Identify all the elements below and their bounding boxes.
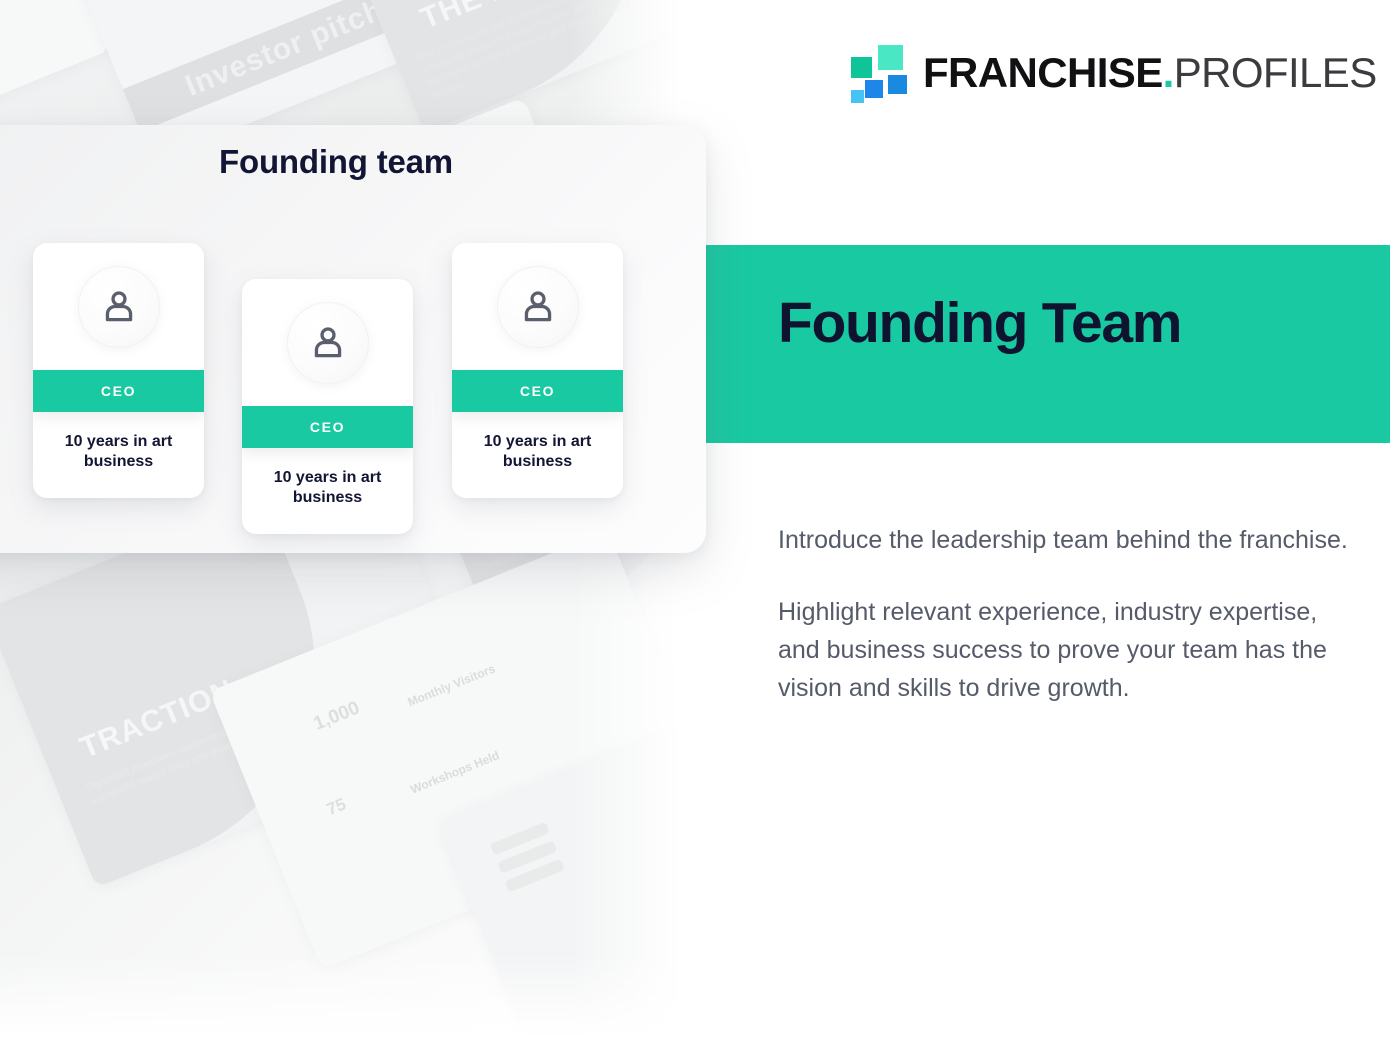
logo-wordmark: FRANCHISE.PROFILES <box>923 52 1377 94</box>
avatar <box>452 243 623 370</box>
backdrop-metric-value-2: 75 <box>324 794 349 820</box>
role-badge-label: CEO <box>310 419 345 435</box>
logo-square-cyan <box>851 90 864 103</box>
role-badge-label: CEO <box>520 383 555 399</box>
avatar-circle <box>287 302 369 384</box>
logo-squares-icon <box>851 45 905 101</box>
logo-dot: . <box>1163 49 1174 96</box>
avatar <box>33 243 204 370</box>
description-paragraph-1: Introduce the leadership team behind the… <box>778 521 1348 559</box>
slide-canvas: MARKET ces in urban and g e substantial … <box>0 0 1390 1043</box>
backdrop-metric-label-2: Workshops Held <box>408 748 501 796</box>
logo-square-teal-dark <box>851 57 872 78</box>
role-badge: CEO <box>33 370 204 412</box>
backdrop-metric-value-1: 1,000 <box>311 697 363 735</box>
role-badge: CEO <box>242 406 413 448</box>
team-card[interactable]: CEO 10 years in art business <box>242 279 413 534</box>
role-badge-label: CEO <box>101 383 136 399</box>
logo-word-profiles: PROFILES <box>1174 49 1377 96</box>
logo-square-blue-right <box>888 75 907 94</box>
person-icon <box>517 286 559 328</box>
backdrop-bottom-fade <box>0 953 690 1043</box>
avatar-circle <box>78 266 160 348</box>
description-paragraph-2: Highlight relevant experience, industry … <box>778 593 1348 707</box>
team-card-note: 10 years in art business <box>452 412 623 498</box>
logo-square-blue-mid <box>865 80 883 98</box>
brand-logo[interactable]: FRANCHISE.PROFILES <box>851 42 1377 104</box>
page-title: Founding Team <box>778 295 1181 352</box>
slide-preview-panel[interactable]: Founding team CEO 10 years in art busine… <box>0 125 706 553</box>
description-block: Introduce the leadership team behind the… <box>778 521 1348 707</box>
backdrop-metric-label-1: Monthly Visitors <box>406 661 498 709</box>
team-card-note: 10 years in art business <box>33 412 204 498</box>
avatar-circle <box>497 266 579 348</box>
person-icon <box>98 286 140 328</box>
team-card-note: 10 years in art business <box>242 448 413 534</box>
title-band: Founding Team <box>703 245 1390 443</box>
logo-square-teal-light <box>878 45 903 70</box>
team-card-list: CEO 10 years in art business CEO <box>0 125 672 553</box>
role-badge: CEO <box>452 370 623 412</box>
team-card[interactable]: CEO 10 years in art business <box>33 243 204 498</box>
person-icon <box>307 322 349 364</box>
avatar <box>242 279 413 406</box>
logo-word-franchise: FRANCHISE <box>923 49 1163 96</box>
team-card[interactable]: CEO 10 years in art business <box>452 243 623 498</box>
